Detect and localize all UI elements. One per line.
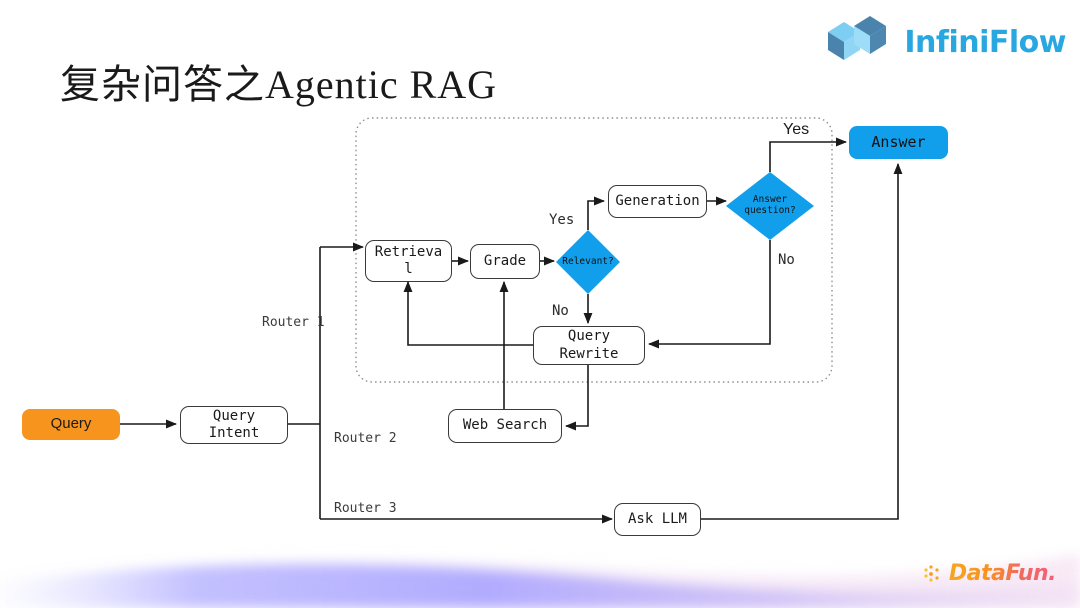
node-query-intent-line2: Intent [209,425,260,443]
node-retrieval-line1: Retrieva [375,244,442,262]
edge-query-rewrite-to-web-search [566,365,588,426]
node-relevant-label: Relevant? [562,257,613,268]
node-retrieval[interactable]: Retrieva l [365,240,452,282]
edge-label-answer-question-no: No [778,252,795,268]
slide-canvas: 复杂问答之Agentic RAG InfiniFlow DataFun. [0,0,1080,608]
node-retrieval-line2: l [404,261,412,279]
edge-label-relevant-yes: Yes [549,212,574,228]
edge-label-answer-question-yes: Yes [783,121,809,139]
edge-label-relevant-no: No [552,303,569,319]
node-answer-question-decision[interactable]: Answer question? [726,172,814,240]
node-relevant-decision[interactable]: Relevant? [556,230,620,294]
agentic-rag-flowchart: Query Query Intent Retrieva l Grade Rele… [0,0,1080,608]
edge-answer-question-yes-to-answer [770,142,846,172]
edge-query-rewrite-to-retrieval [408,282,533,345]
node-query-rewrite-line1: Query [568,328,610,346]
node-query-rewrite[interactable]: Query Rewrite [533,326,645,365]
edge-answer-question-no-to-query-rewrite [649,240,770,344]
edge-label-router3: Router 3 [334,501,397,516]
node-query-intent[interactable]: Query Intent [180,406,288,444]
flowchart-edges [0,0,1080,608]
node-query-intent-line1: Query [213,408,255,426]
node-generation[interactable]: Generation [608,185,707,218]
node-answer-question-line2: question? [744,206,795,217]
edge-label-router1: Router 1 [262,315,325,330]
node-web-search[interactable]: Web Search [448,409,562,443]
node-ask-llm[interactable]: Ask LLM [614,503,701,536]
node-query-rewrite-line2: Rewrite [559,346,618,364]
edge-label-router2: Router 2 [334,431,397,446]
node-query[interactable]: Query [22,409,120,440]
node-grade[interactable]: Grade [470,244,540,279]
edge-relevant-yes-to-generation [588,201,604,230]
node-answer[interactable]: Answer [849,126,948,159]
